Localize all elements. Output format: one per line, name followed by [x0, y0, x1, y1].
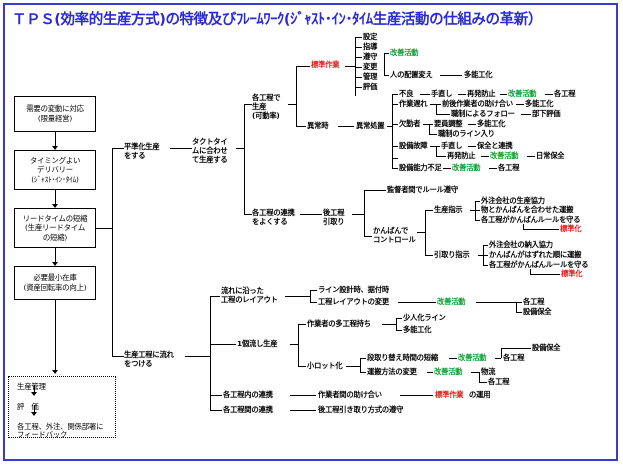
connector-multi-out: [382, 324, 396, 325]
sw-item-5: 評価: [363, 83, 377, 92]
ab-link-4b: [489, 168, 497, 169]
sw-kaizen: 改善活動: [390, 49, 418, 58]
node-pull-line2: 引取り: [323, 218, 344, 227]
kanban-spine: [425, 210, 426, 255]
ab-sub-step-2: 職制のライン入り: [438, 130, 495, 139]
ab-sub-tail-3: 日常保全: [536, 152, 564, 161]
branch-to-flow: [112, 356, 124, 357]
feedback-line1: 生産管理: [17, 383, 46, 391]
layout-tail-tick-0: [516, 302, 522, 303]
branch-to-heijunka: [112, 148, 124, 149]
ab-tail-1: 多能工化: [525, 100, 553, 109]
left-box-stock: 必要最小在庫 (資産回転率の向上): [14, 266, 96, 300]
small-lot-row0-tail-0: 設備保全: [532, 344, 560, 353]
ab-sub-spine-1: [436, 104, 437, 114]
layout-item-1: 工程レイアウトの変更: [318, 298, 389, 307]
sw-haichi-link: [440, 75, 462, 76]
node-flow-line2: をつける: [124, 360, 152, 369]
tick-rule: [364, 190, 386, 191]
connector-heijunka-takt: [170, 148, 192, 149]
branch-leadtime-out: [96, 228, 112, 229]
arrow-to-feedback: [52, 370, 58, 374]
feedback-v2: [34, 405, 35, 413]
intra-link: [290, 395, 316, 396]
node-abnormal-action: 異常処置: [356, 122, 384, 131]
tick-sw-0: [355, 37, 362, 38]
tick-seisan-shiji: [425, 210, 433, 211]
ab-sub-step-3: 再発防止: [447, 152, 475, 161]
ab-cause-3: 設備故障: [399, 142, 427, 151]
ab-kaizen-4: 改善活動: [452, 164, 480, 173]
left-box-leadtime: リードタイムの短縮 (生産リードタイム の短縮): [14, 208, 96, 248]
layout-kaizen-out: [476, 302, 516, 303]
left-box-delivery-line3: (ｼﾞｬｽﾄ･ｲﾝ･ﾀｲﾑ): [31, 175, 79, 185]
node-rule: 監督者間でルール遵守: [387, 186, 458, 195]
multi-tick-0: [396, 318, 402, 319]
small-lot-row0-tail-tick-0: [501, 348, 531, 349]
connector-flow-out: [185, 356, 210, 357]
ab-link-0d: [545, 94, 553, 95]
left-box-demand-line1: 需要の変動に対応: [26, 104, 84, 114]
node-multi-process: 作業者の多工程持ち: [307, 320, 371, 329]
takt-spine: [244, 104, 245, 214]
connector-small-lot-out: [346, 366, 360, 367]
left-box-stock-line1: 必要最小在庫: [33, 273, 76, 283]
left-box-delivery-line2: デリバリー: [37, 165, 73, 175]
ab-sub-kaizen-3: 改善活動: [490, 152, 518, 161]
small-lot-row1-tail-0: 物流: [481, 368, 495, 377]
intra-link-2: [400, 395, 433, 396]
left-box-delivery-line1: タイミングよい: [30, 156, 80, 166]
connector-standard-work-out: [345, 66, 355, 67]
ab-link-1b: [436, 104, 441, 105]
layout-tail-tick-1: [516, 312, 522, 313]
tick-sw-5: [355, 87, 362, 88]
layout-kaizen-link: [398, 302, 436, 303]
sw-right-spine: [384, 53, 385, 75]
layout-tick-0: [310, 290, 317, 291]
seisan-tick-0: [475, 201, 480, 202]
small-lot-row-0: 段取り替え時間の短縮: [367, 354, 438, 363]
ab-step-2-0: 要員調整: [434, 120, 462, 129]
small-lot-row0-out: [495, 358, 501, 359]
connector-kakukotei-out: [288, 104, 296, 105]
ab-link-1c: [516, 104, 524, 105]
connector-pull-out: [352, 214, 364, 215]
hikitori-item-1: かんばんがはずれた順に運搬: [489, 251, 581, 260]
layout-tail-0: 各工程: [523, 298, 544, 307]
sw-item-4: 管理: [363, 73, 377, 82]
sw-haichi: 人の配置変え: [390, 71, 433, 80]
sw-item-0: 設定: [363, 33, 377, 42]
ab-tick-0: [392, 94, 398, 95]
node-renkei-line2: をよくする: [252, 218, 287, 227]
feedback-v1: [34, 385, 35, 393]
node-kanban-line2: コントロール: [373, 236, 416, 245]
ab-tail-3: 保全と連携: [477, 142, 512, 151]
node-heijunka-line2: をする: [124, 152, 145, 161]
small-lot-row1-link: [427, 372, 433, 373]
ab-link-2b: [429, 124, 433, 125]
ab-sub-spine-3: [436, 146, 437, 156]
ab-link-3e: [481, 156, 489, 157]
node-inter-mid: 後工程引き取り方式の遵守: [318, 406, 403, 415]
ab-tail-0: 各工程: [554, 90, 575, 99]
hikitori-tick-0: [483, 245, 488, 246]
page-title: ＴＰＳ(効率的生産方式)の特徴及びﾌﾚｰﾑﾜｰｸ(ｼﾞｬｽﾄ･ｲﾝ･ﾀｲﾑ生産活…: [12, 8, 612, 29]
ab-step-0-0: 手直し: [431, 90, 452, 99]
sw-tanouko: 多能工化: [464, 71, 492, 80]
ab-cause-4: 設備能力不足: [399, 164, 442, 173]
sw-item-3: 変更: [363, 63, 377, 72]
ab-link-0b: [458, 94, 466, 95]
small-lot-row1-kaizen: 改善活動: [434, 368, 462, 377]
seisan-tick-1: [475, 210, 480, 211]
seisan-item-1: 物とかんばんを合わせた運搬: [481, 206, 573, 215]
branch-to-standard-work: [296, 66, 310, 67]
feedback-line4: フィードバック: [17, 431, 67, 439]
ab-tick-4b: [392, 168, 398, 169]
ab-link-0c: [500, 94, 507, 95]
node-one-piece: 1個流し生産: [237, 340, 277, 349]
layout-item-0: ライン設計時、据付時: [318, 286, 389, 295]
tick-sw-2: [355, 57, 362, 58]
ab-tick-2: [392, 124, 398, 125]
node-layout-line2: 工程のレイアウト: [221, 296, 278, 305]
node-intra-mid: 作業者間の助け合い: [318, 391, 382, 400]
ab-link-0a: [420, 94, 430, 95]
ab-tick-1: [392, 104, 398, 105]
small-lot-row-1: 運搬方法の変更: [367, 368, 417, 377]
hikitori-tick-2: [483, 265, 488, 266]
layout-spine: [310, 290, 311, 302]
small-lot-row1-tail-spine: [479, 372, 480, 382]
tick-layout: [210, 296, 220, 297]
tick-intra: [210, 395, 222, 396]
hikitori-tick-1: [483, 255, 488, 256]
multi-item-0: 少人化ライン: [403, 314, 446, 323]
branch-to-kakukotei-seisan: [244, 104, 252, 105]
flow-spine: [210, 296, 211, 410]
node-small-lot: 小ロット化: [307, 362, 342, 371]
left-box-stock-line2: (資産回転率の向上): [24, 283, 87, 293]
layout-tail-1: 設備保全: [523, 308, 551, 317]
ab-sub-step-1: 職制によるフォロー: [451, 110, 515, 119]
small-lot-tick-0: [360, 358, 366, 359]
ab-cause-0: 不良: [399, 90, 413, 99]
seisan-tick-2: [475, 220, 480, 221]
hikitori-item-0: 外注会社の納入協力: [489, 241, 553, 250]
branch-leadtime-spine: [112, 148, 113, 356]
multi-item-1: 多能工化: [403, 326, 431, 335]
connector-layout-out: [285, 296, 310, 297]
branch-to-abnormal: [296, 126, 306, 127]
small-lot-row0-tail-spine: [501, 348, 502, 358]
tick-sw-3: [355, 67, 362, 68]
connector-stock-to-feedback: [55, 300, 56, 373]
small-lot-row0-kaizen: 改善活動: [458, 354, 486, 363]
connector-one-piece-out: [290, 344, 298, 345]
tick-kanban: [364, 236, 372, 237]
ab-link-2c: [468, 124, 476, 125]
multi-tick-1: [396, 330, 402, 331]
ab-kaizen-0: 改善活動: [508, 90, 536, 99]
node-intra: 各工程内の連携: [223, 391, 273, 400]
node-standard-work: 標準作業: [311, 61, 339, 70]
tick-inter: [210, 410, 222, 411]
sw-item-2: 遵守: [363, 53, 377, 62]
node-intra-tail-rest: の運用: [469, 391, 490, 400]
left-box-delivery: タイミングよい デリバリー (ｼﾞｬｽﾄ･ｲﾝ･ﾀｲﾑ): [14, 150, 96, 190]
node-kakukotei-line3: (可動率): [252, 112, 280, 121]
ab-link-3b: [436, 146, 440, 147]
left-box-leadtime-line1: リードタイムの短縮: [23, 214, 88, 224]
ab-link-3c: [468, 146, 476, 147]
ab-tick-3: [392, 146, 398, 147]
ab-cause-2: 欠勤者: [399, 120, 420, 129]
tick-small-lot: [298, 366, 306, 367]
hikitori-std-h: [530, 274, 560, 275]
node-takt-line3: て生産する: [192, 156, 227, 165]
ab-link-1d: [436, 114, 450, 115]
pull-spine: [364, 190, 365, 236]
ab-link-3f: [527, 156, 535, 157]
one-piece-spine: [298, 324, 299, 366]
ab-step-1-0: 前後作業者の助け合い: [442, 100, 513, 109]
left-box-demand: 需要の変動に対応 (限量経営): [14, 96, 96, 132]
tick-sw-1: [355, 47, 362, 48]
left-box-demand-line2: (限量経営): [38, 114, 72, 124]
hikitori-standardize: 標準化: [561, 270, 582, 279]
branch-to-kotei-renkei: [244, 214, 252, 215]
tick-multi-process: [298, 324, 306, 325]
ab-tail-4: 各工程: [498, 164, 519, 173]
sw-right-tick-1: [384, 75, 389, 76]
small-lot-spine: [360, 358, 361, 372]
layout-tail-spine: [516, 302, 517, 312]
multi-spine: [396, 318, 397, 330]
feedback-box: 生産管理 評 価 各工程、外注、関係部署に フィードバック: [8, 376, 116, 438]
left-box-leadtime-line3: の短縮): [43, 233, 67, 243]
ab-tail-2: 多能工化: [477, 120, 505, 129]
connector-abnormal-action: [338, 126, 354, 127]
tick-one-piece: [210, 344, 236, 345]
ab-step-3-0: 手直し: [441, 142, 462, 151]
left-box-leadtime-line2: (生産リードタイム: [25, 223, 85, 233]
ab-step-0-1: 再発防止: [467, 90, 495, 99]
ab-spine-4-ext: [392, 158, 393, 168]
connector-kanban-out: [417, 232, 425, 233]
tick-hikitori-shiji: [425, 255, 433, 256]
ab-cause-1: 作業遅れ: [399, 100, 427, 109]
small-lot-tick-1: [360, 372, 366, 373]
ab-sub-spine-2: [429, 124, 430, 134]
node-intra-tail-red: 標準作業: [435, 391, 463, 400]
small-lot-row0-link: [449, 358, 457, 359]
ab-sub-tail-1: 部下評価: [532, 110, 560, 119]
node-inter: 各工程間の連携: [223, 406, 273, 415]
tick-sw-4: [355, 77, 362, 78]
layout-kaizen: 改善活動: [437, 298, 465, 307]
node-hikitori-shiji: 引取り指示: [434, 251, 469, 260]
connector-takt-out: [236, 148, 244, 149]
sw-right-tick-0: [384, 53, 389, 54]
ab-link-1e: [521, 114, 531, 115]
layout-tick-1: [310, 302, 317, 303]
sw-item-1: 指導: [363, 43, 377, 52]
kakukotei-spine: [296, 66, 297, 126]
node-abnormal: 異常時: [307, 122, 328, 131]
ab-link-2d: [429, 134, 437, 135]
ab-link-3d: [436, 156, 446, 157]
feedback-line2: 評 価: [17, 403, 39, 411]
ab-link-4a: [443, 168, 451, 169]
small-lot-row1-tail-1: 各工程: [488, 378, 509, 387]
seisan-std-h: [523, 229, 559, 230]
small-lot-row1-out: [471, 372, 479, 373]
connector-renkei-out: [300, 214, 322, 215]
small-lot-row1-tail-tick-1: [479, 382, 487, 383]
inter-link: [290, 410, 316, 411]
seisan-standardize: 標準化: [560, 225, 581, 234]
small-lot-row0-tail-1: 各工程: [503, 354, 524, 363]
node-seisan-shiji: 生産指示: [434, 206, 462, 215]
